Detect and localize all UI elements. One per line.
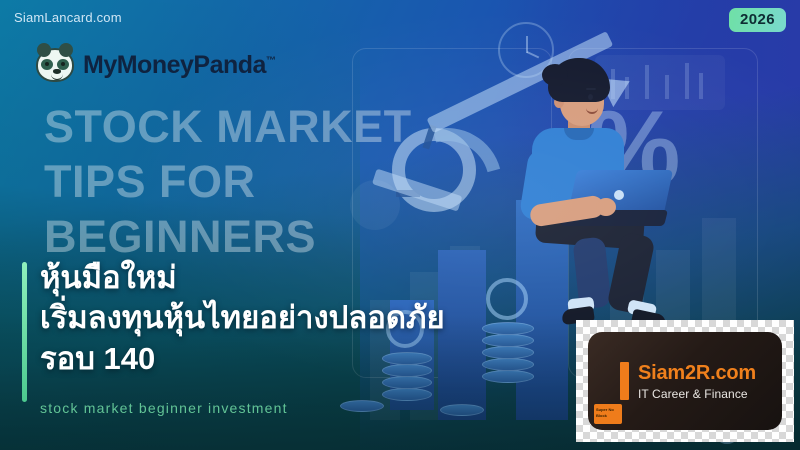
sponsor-badge-card: Siam2R.com IT Career & Finance Super No … [588,332,782,430]
brand-name-text: MyMoneyPanda [83,51,266,79]
orange-accent-bar-icon [620,362,629,400]
poster-canvas: % [0,0,800,450]
sponsor-subtitle: IT Career & Finance [638,387,756,401]
panda-face-icon [36,48,74,82]
page-title: STOCK MARKET TIPS FOR BEGINNERS [44,100,464,265]
thai-headline-line: หุ้นมือใหม่ [40,258,445,298]
brand-logo: MyMoneyPanda™ [36,48,275,82]
year-badge: 2026 [729,8,786,32]
sponsor-corner-tag: Super No Block [594,404,622,424]
sponsor-title: Siam2R.com [638,362,756,385]
subtitle-keywords: stock market beginner investment [40,400,288,416]
accent-bar [22,262,27,402]
brand-name: MyMoneyPanda™ [83,51,275,80]
site-watermark: SiamLancard.com [14,10,122,25]
sponsor-badge[interactable]: Siam2R.com IT Career & Finance Super No … [576,320,794,442]
trademark-symbol: ™ [266,55,276,66]
thai-headline-line: รอบ 140 [40,339,445,379]
thai-headline-line: เริ่มลงทุนหุ้นไทยอย่างปลอดภัย [40,298,445,338]
thai-headline-block: หุ้นมือใหม่ เริ่มลงทุนหุ้นไทยอย่างปลอดภั… [22,258,445,379]
